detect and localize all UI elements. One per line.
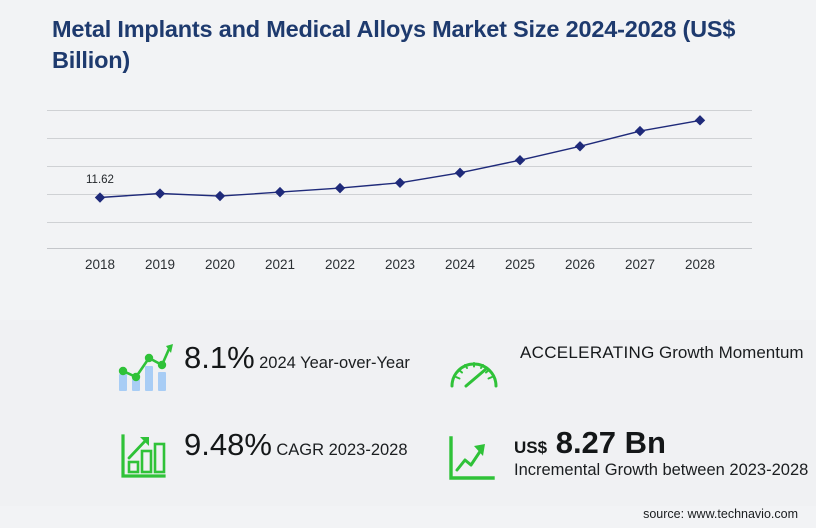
stat-value: ACCELERATING [520, 343, 655, 362]
key-stats-panel: 8.1% 2024 Year-over-Year ACCELE [0, 320, 816, 506]
data-point-marker-2028 [695, 115, 705, 125]
stat-card-growth-momentum: ACCELERATING Growth Momentum [448, 342, 804, 394]
data-point-marker-2019 [155, 188, 165, 198]
stat-card-incremental-growth: US$ 8.27 Bn Incremental Growth between 2… [448, 426, 816, 482]
x-tick-label-2024: 2024 [445, 257, 475, 272]
data-point-marker-2025 [515, 155, 525, 165]
stat-amount: 8.27 Bn [556, 425, 666, 460]
x-tick-label-2018: 2018 [85, 257, 115, 272]
data-point-label-2018: 11.62 [86, 174, 114, 186]
stat-label-line1: Incremental Growth [514, 461, 658, 479]
data-point-marker-2022 [335, 183, 345, 193]
x-tick-label-2023: 2023 [385, 257, 415, 272]
data-point-marker-2024 [455, 168, 465, 178]
market-size-line-chart: 11.62 2018201920202021202220232024202520… [0, 92, 816, 282]
stat-value: US$ 8.27 Bn [514, 425, 666, 460]
stat-label: CAGR 2023-2028 [276, 441, 407, 459]
bar-line-growth-icon [116, 341, 174, 393]
x-tick-label-2026: 2026 [565, 257, 595, 272]
x-tick-label-2025: 2025 [505, 257, 535, 272]
stat-label: Growth Momentum [659, 343, 804, 362]
data-point-marker-2021 [275, 187, 285, 197]
x-tick-label-2022: 2022 [325, 257, 355, 272]
x-tick-label-2027: 2027 [625, 257, 655, 272]
source-attribution: source: www.technavio.com [643, 507, 798, 521]
data-point-marker-2020 [215, 191, 225, 201]
currency-unit: US$ [514, 438, 547, 457]
x-tick-label-2019: 2019 [145, 257, 175, 272]
bar-chart-arrow-icon [120, 434, 166, 480]
x-tick-label-2021: 2021 [265, 257, 295, 272]
stat-label: 2024 Year-over-Year [259, 354, 410, 372]
speedometer-icon [448, 350, 500, 394]
stat-value: 9.48% [184, 427, 272, 462]
chart-series-svg [47, 92, 752, 250]
data-point-marker-2027 [635, 126, 645, 136]
series-markers [95, 115, 705, 203]
stat-text-block: ACCELERATING Growth Momentum [520, 342, 804, 365]
line-chart-arrow-icon [448, 436, 496, 482]
x-tick-label-2020: 2020 [205, 257, 235, 272]
stat-text-block: 8.1% 2024 Year-over-Year [184, 341, 410, 374]
stat-text-block: 9.48% CAGR 2023-2028 [184, 428, 408, 461]
stat-card-year-over-year: 8.1% 2024 Year-over-Year [116, 341, 410, 393]
data-point-marker-2018 [95, 192, 105, 202]
data-point-marker-2023 [395, 178, 405, 188]
x-tick-label-2028: 2028 [685, 257, 715, 272]
stat-label-line2: between 2023-2028 [662, 461, 808, 479]
page-title: Metal Implants and Medical Alloys Market… [52, 14, 762, 75]
data-point-marker-2026 [575, 141, 585, 151]
x-axis-tick-labels: 2018201920202021202220232024202520262027… [47, 257, 752, 281]
stat-card-cagr: 9.48% CAGR 2023-2028 [120, 428, 408, 480]
stat-text-block: US$ 8.27 Bn Incremental Growth between 2… [514, 426, 816, 482]
stat-value: 8.1% [184, 340, 255, 375]
